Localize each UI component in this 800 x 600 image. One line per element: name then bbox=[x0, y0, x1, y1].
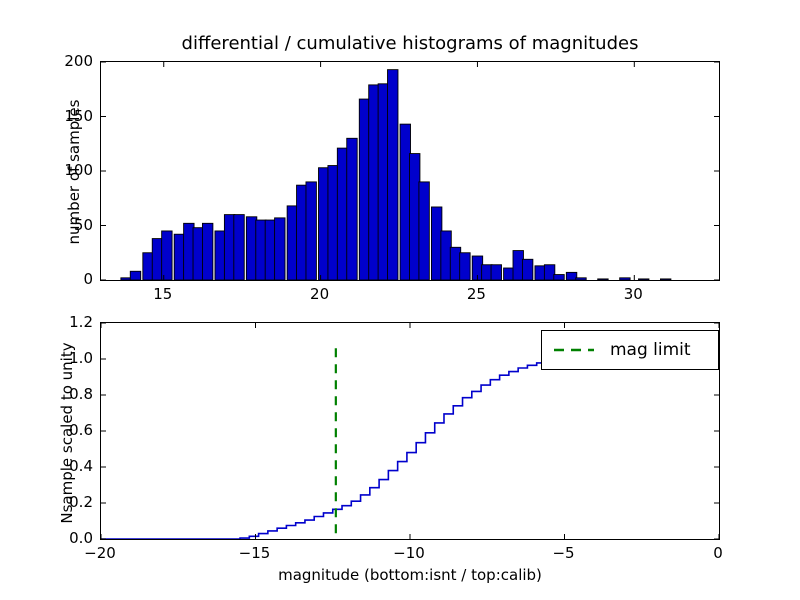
histogram-bar bbox=[598, 279, 608, 280]
histogram-bar bbox=[256, 220, 266, 280]
top-xtick-label: 30 bbox=[624, 285, 643, 303]
top-ytick-label: 200 bbox=[64, 52, 93, 70]
histogram-bar bbox=[328, 166, 338, 280]
histogram-bar bbox=[450, 247, 460, 280]
mag-limit-line-icon bbox=[552, 343, 596, 357]
histogram-bar bbox=[431, 207, 441, 280]
histogram-bar bbox=[306, 182, 316, 280]
top-xtick-label: 25 bbox=[467, 285, 486, 303]
histogram-bar bbox=[359, 99, 369, 280]
histogram-bar bbox=[246, 217, 256, 280]
top-xtick-label: 20 bbox=[310, 285, 329, 303]
histogram-bar bbox=[660, 279, 670, 280]
histogram-bar bbox=[319, 168, 329, 280]
histogram-bar bbox=[400, 124, 410, 280]
histogram-bar bbox=[193, 228, 203, 280]
histogram-bar bbox=[419, 182, 429, 280]
histogram-bar bbox=[441, 231, 451, 280]
histogram-bar bbox=[121, 278, 131, 280]
histogram-bar bbox=[378, 84, 388, 280]
bottom-xtick-label: −20 bbox=[84, 544, 116, 562]
histogram-bar bbox=[460, 253, 470, 280]
histogram-bar bbox=[544, 265, 554, 280]
bottom-ytick-label: 1.2 bbox=[69, 313, 93, 331]
cumulative-curve bbox=[101, 359, 719, 539]
bottom-ytick-label: 0.8 bbox=[69, 385, 93, 403]
histogram-bar bbox=[224, 215, 234, 280]
differential-histogram-axes bbox=[100, 61, 720, 281]
histogram-bar bbox=[522, 259, 532, 280]
histogram-bar bbox=[347, 138, 357, 280]
bottom-xtick-label: −5 bbox=[552, 544, 574, 562]
top-ytick-label: 100 bbox=[64, 161, 93, 179]
figure-xlabel: magnitude (bottom:isnt / top:calib) bbox=[100, 566, 720, 584]
top-ytick-label: 0 bbox=[83, 270, 93, 288]
histogram-bar bbox=[388, 70, 398, 280]
top-xtick-label: 15 bbox=[153, 285, 172, 303]
bottom-ytick-label: 0.6 bbox=[69, 421, 93, 439]
histogram-bar bbox=[576, 278, 586, 280]
legend-label: mag limit bbox=[610, 340, 691, 360]
histogram-bar bbox=[287, 206, 297, 280]
bottom-xtick-label: −10 bbox=[393, 544, 425, 562]
histogram-bar bbox=[234, 215, 244, 280]
histogram-bar bbox=[491, 265, 501, 280]
top-ytick-label: 150 bbox=[64, 107, 93, 125]
histogram-bar bbox=[265, 220, 275, 280]
histogram-bar bbox=[130, 271, 140, 280]
histogram-bar bbox=[184, 223, 194, 280]
histogram-bar bbox=[143, 253, 153, 280]
histogram-bar bbox=[202, 223, 212, 280]
histogram-bar bbox=[337, 148, 347, 280]
histogram-bar bbox=[409, 154, 419, 280]
histogram-bar bbox=[174, 234, 184, 280]
histogram-bar bbox=[482, 265, 492, 280]
histogram-bar bbox=[513, 251, 523, 280]
histogram-bar bbox=[620, 278, 630, 280]
histogram-bar bbox=[369, 85, 379, 280]
figure-title: differential / cumulative histograms of … bbox=[100, 33, 720, 54]
histogram-bar bbox=[275, 218, 285, 280]
histogram-bar bbox=[638, 279, 648, 280]
bottom-xtick-label: 0 bbox=[713, 544, 723, 562]
bottom-ytick-label: 0.2 bbox=[69, 493, 93, 511]
differential-histogram-plot bbox=[101, 62, 719, 280]
histogram-bar bbox=[162, 231, 172, 280]
histogram-bar bbox=[297, 185, 307, 280]
top-ytick-label: 50 bbox=[74, 216, 93, 234]
histogram-bar bbox=[152, 239, 162, 280]
histogram-bar bbox=[566, 272, 576, 280]
bottom-xtick-label: −15 bbox=[239, 544, 271, 562]
histogram-bar bbox=[504, 268, 514, 280]
legend: mag limit bbox=[541, 330, 719, 370]
histogram-bar bbox=[554, 275, 564, 280]
histogram-bar bbox=[535, 266, 545, 280]
bottom-ytick-label: 1.0 bbox=[69, 349, 93, 367]
matplotlib-figure: differential / cumulative histograms of … bbox=[0, 0, 800, 600]
bottom-ytick-label: 0.4 bbox=[69, 457, 93, 475]
histogram-bar bbox=[215, 231, 225, 280]
